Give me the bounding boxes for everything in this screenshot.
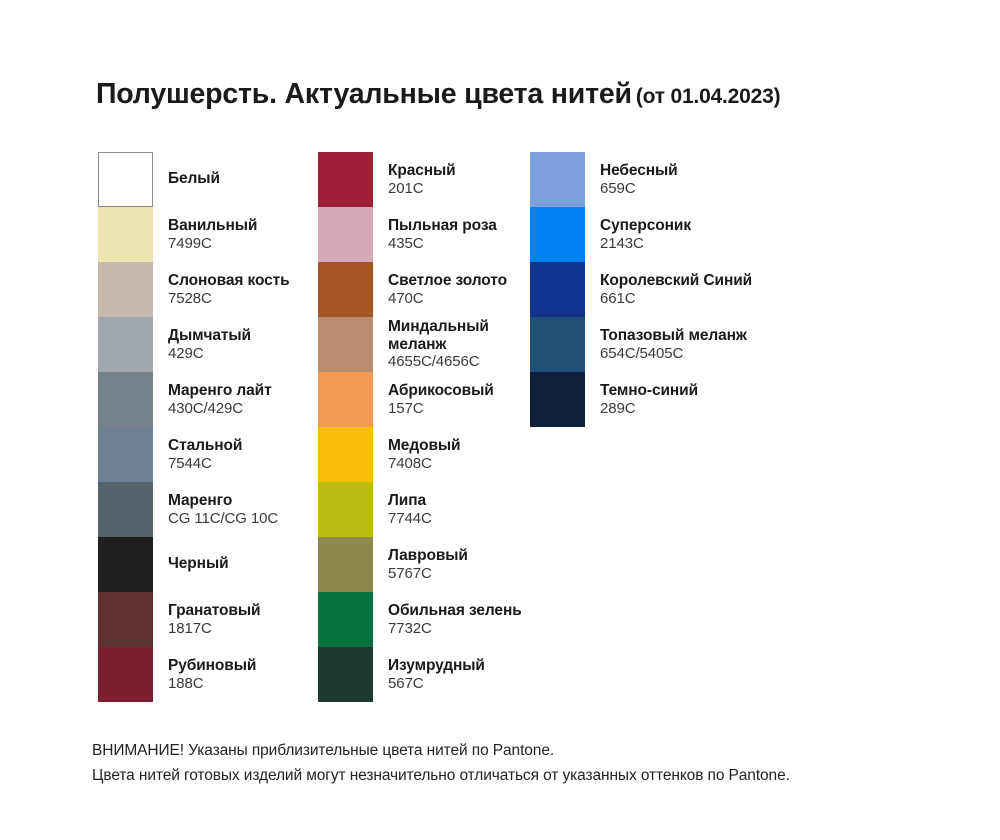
swatch-text: Небесный659C xyxy=(600,152,678,207)
swatch-text: Гранатовый1817C xyxy=(168,592,260,647)
color-swatch[interactable] xyxy=(98,427,153,482)
swatch-name: Миндальный меланж xyxy=(388,318,489,353)
swatch-name: Гранатовый xyxy=(168,602,260,620)
swatch-row[interactable]: Абрикосовый157C xyxy=(318,372,528,427)
swatch-pantone-code: 2143C xyxy=(600,235,691,253)
swatch-name: Рубиновый xyxy=(168,657,256,675)
swatch-pantone-code: 7528C xyxy=(168,290,290,308)
swatch-row[interactable]: Миндальный меланж4655C/4656C xyxy=(318,317,528,372)
color-swatch[interactable] xyxy=(530,317,585,372)
color-swatch[interactable] xyxy=(318,482,373,537)
page-title: Полушерсть. Актуальные цвета нитей(от 01… xyxy=(96,78,956,111)
swatch-text: Пыльная роза435C xyxy=(388,207,497,262)
swatch-row[interactable]: Слоновая кость7528C xyxy=(98,262,313,317)
page-title-main: Полушерсть. Актуальные цвета нитей xyxy=(96,78,632,110)
swatch-name: Топазовый меланж xyxy=(600,327,747,345)
color-swatch[interactable] xyxy=(318,372,373,427)
color-swatch[interactable] xyxy=(98,592,153,647)
page-title-date: (от 01.04.2023) xyxy=(636,85,781,108)
swatch-pantone-code: 567C xyxy=(388,675,485,693)
swatch-pantone-code: 1817C xyxy=(168,620,260,638)
swatch-row[interactable]: Белый xyxy=(98,152,313,207)
color-swatch[interactable] xyxy=(98,317,153,372)
color-swatch[interactable] xyxy=(530,262,585,317)
footer-line-2: Цвета нитей готовых изделий могут незнач… xyxy=(92,763,972,788)
color-swatch[interactable] xyxy=(318,427,373,482)
swatch-pantone-code: 7744C xyxy=(388,510,432,528)
swatch-name: Белый xyxy=(168,170,220,188)
column-blues: Небесный659CСуперсоник2143CКоролевский С… xyxy=(530,152,790,427)
swatch-pantone-code: 470C xyxy=(388,290,507,308)
swatch-name: Черный xyxy=(168,555,229,573)
color-swatch[interactable] xyxy=(98,537,153,592)
swatch-pantone-code: 7408C xyxy=(388,455,460,473)
swatch-name: Медовый xyxy=(388,437,460,455)
swatch-name: Стальной xyxy=(168,437,242,455)
swatch-pantone-code: 289C xyxy=(600,400,698,418)
swatch-pantone-code: CG 11C/CG 10C xyxy=(168,510,278,528)
swatch-text: Медовый7408C xyxy=(388,427,460,482)
swatch-text: Лавровый5767C xyxy=(388,537,468,592)
color-swatch[interactable] xyxy=(318,152,373,207)
column-warm: Красный201CПыльная роза435CСветлое золот… xyxy=(318,152,528,702)
swatch-text: Абрикосовый157C xyxy=(388,372,494,427)
swatch-text: Темно-синий289C xyxy=(600,372,698,427)
swatch-text: Суперсоник2143C xyxy=(600,207,691,262)
column-neutrals: БелыйВанильный7499CСлоновая кость7528CДы… xyxy=(98,152,313,702)
swatch-text: Стальной7544C xyxy=(168,427,242,482)
swatch-row[interactable]: Суперсоник2143C xyxy=(530,207,790,262)
swatch-row[interactable]: Липа7744C xyxy=(318,482,528,537)
swatch-text: Дымчатый429C xyxy=(168,317,251,372)
swatch-pantone-code: 4655C/4656C xyxy=(388,353,489,371)
swatch-name: Изумрудный xyxy=(388,657,485,675)
color-chart-page: Полушерсть. Актуальные цвета нитей(от 01… xyxy=(0,0,1000,840)
swatch-name: Ванильный xyxy=(168,217,257,235)
swatch-pantone-code: 429C xyxy=(168,345,251,363)
swatch-row[interactable]: Темно-синий289C xyxy=(530,372,790,427)
color-swatch[interactable] xyxy=(318,592,373,647)
swatch-name: Абрикосовый xyxy=(388,382,494,400)
swatch-row[interactable]: Обильная зелень7732C xyxy=(318,592,528,647)
swatch-pantone-code: 435C xyxy=(388,235,497,253)
swatch-text: Маренго лайт430C/429C xyxy=(168,372,272,427)
color-swatch[interactable] xyxy=(98,482,153,537)
color-swatch[interactable] xyxy=(318,207,373,262)
swatch-text: Обильная зелень7732C xyxy=(388,592,522,647)
swatch-row[interactable]: Медовый7408C xyxy=(318,427,528,482)
swatch-pantone-code: 157C xyxy=(388,400,494,418)
swatch-name: Маренго xyxy=(168,492,278,510)
swatch-name: Королевский Синий xyxy=(600,272,752,290)
swatch-row[interactable]: Стальной7544C xyxy=(98,427,313,482)
swatch-name: Пыльная роза xyxy=(388,217,497,235)
color-swatch[interactable] xyxy=(318,537,373,592)
swatch-pantone-code: 7499C xyxy=(168,235,257,253)
swatch-row[interactable]: Изумрудный567C xyxy=(318,647,528,702)
swatch-text: Светлое золото470C xyxy=(388,262,507,317)
swatch-text: Слоновая кость7528C xyxy=(168,262,290,317)
swatch-name: Маренго лайт xyxy=(168,382,272,400)
swatch-name: Обильная зелень xyxy=(388,602,522,620)
swatch-name: Светлое золото xyxy=(388,272,507,290)
swatch-row[interactable]: Дымчатый429C xyxy=(98,317,313,372)
swatch-pantone-code: 661C xyxy=(600,290,752,308)
swatch-text: Рубиновый188C xyxy=(168,647,256,702)
swatch-pantone-code: 5767C xyxy=(388,565,468,583)
swatch-row[interactable]: МаренгоCG 11C/CG 10C xyxy=(98,482,313,537)
swatch-row[interactable]: Небесный659C xyxy=(530,152,790,207)
swatch-pantone-code: 654C/5405C xyxy=(600,345,747,363)
swatch-pantone-code: 7732C xyxy=(388,620,522,638)
footer-note: ВНИМАНИЕ! Указаны приблизительные цвета … xyxy=(92,738,972,788)
swatch-row[interactable]: Топазовый меланж654C/5405C xyxy=(530,317,790,372)
swatch-pantone-code: 201C xyxy=(388,180,456,198)
swatch-name: Красный xyxy=(388,162,456,180)
swatch-row[interactable]: Черный xyxy=(98,537,313,592)
swatch-name: Суперсоник xyxy=(600,217,691,235)
swatch-row[interactable]: Рубиновый188C xyxy=(98,647,313,702)
swatch-text: Изумрудный567C xyxy=(388,647,485,702)
swatch-text: Белый xyxy=(168,152,220,207)
swatch-pantone-code: 188C xyxy=(168,675,256,693)
swatch-row[interactable]: Светлое золото470C xyxy=(318,262,528,317)
swatch-row[interactable]: Пыльная роза435C xyxy=(318,207,528,262)
color-swatch[interactable] xyxy=(318,317,373,372)
swatch-pantone-code: 659C xyxy=(600,180,678,198)
swatch-name: Темно-синий xyxy=(600,382,698,400)
swatch-name: Небесный xyxy=(600,162,678,180)
swatch-text: Липа7744C xyxy=(388,482,432,537)
color-swatch[interactable] xyxy=(530,152,585,207)
color-swatch[interactable] xyxy=(530,207,585,262)
swatch-text: Красный201C xyxy=(388,152,456,207)
swatch-row[interactable]: Красный201C xyxy=(318,152,528,207)
color-swatch[interactable] xyxy=(98,262,153,317)
swatch-text: Топазовый меланж654C/5405C xyxy=(600,317,747,372)
footer-line-1: ВНИМАНИЕ! Указаны приблизительные цвета … xyxy=(92,738,972,763)
color-swatch[interactable] xyxy=(98,207,153,262)
swatch-text: Королевский Синий661C xyxy=(600,262,752,317)
swatch-text: МаренгоCG 11C/CG 10C xyxy=(168,482,278,537)
color-swatch[interactable] xyxy=(530,372,585,427)
color-swatch[interactable] xyxy=(98,647,153,702)
swatch-row[interactable]: Гранатовый1817C xyxy=(98,592,313,647)
color-swatch[interactable] xyxy=(98,372,153,427)
swatch-name: Дымчатый xyxy=(168,327,251,345)
swatch-row[interactable]: Ванильный7499C xyxy=(98,207,313,262)
color-swatch[interactable] xyxy=(318,262,373,317)
swatch-name: Слоновая кость xyxy=(168,272,290,290)
swatch-pantone-code: 430C/429C xyxy=(168,400,272,418)
swatch-name: Липа xyxy=(388,492,432,510)
swatch-text: Черный xyxy=(168,537,229,592)
swatch-text: Миндальный меланж4655C/4656C xyxy=(388,317,489,372)
swatch-row[interactable]: Королевский Синий661C xyxy=(530,262,790,317)
swatch-row[interactable]: Маренго лайт430C/429C xyxy=(98,372,313,427)
swatch-row[interactable]: Лавровый5767C xyxy=(318,537,528,592)
color-swatch[interactable] xyxy=(98,152,153,207)
swatch-name: Лавровый xyxy=(388,547,468,565)
swatch-text: Ванильный7499C xyxy=(168,207,257,262)
color-swatch[interactable] xyxy=(318,647,373,702)
swatch-pantone-code: 7544C xyxy=(168,455,242,473)
